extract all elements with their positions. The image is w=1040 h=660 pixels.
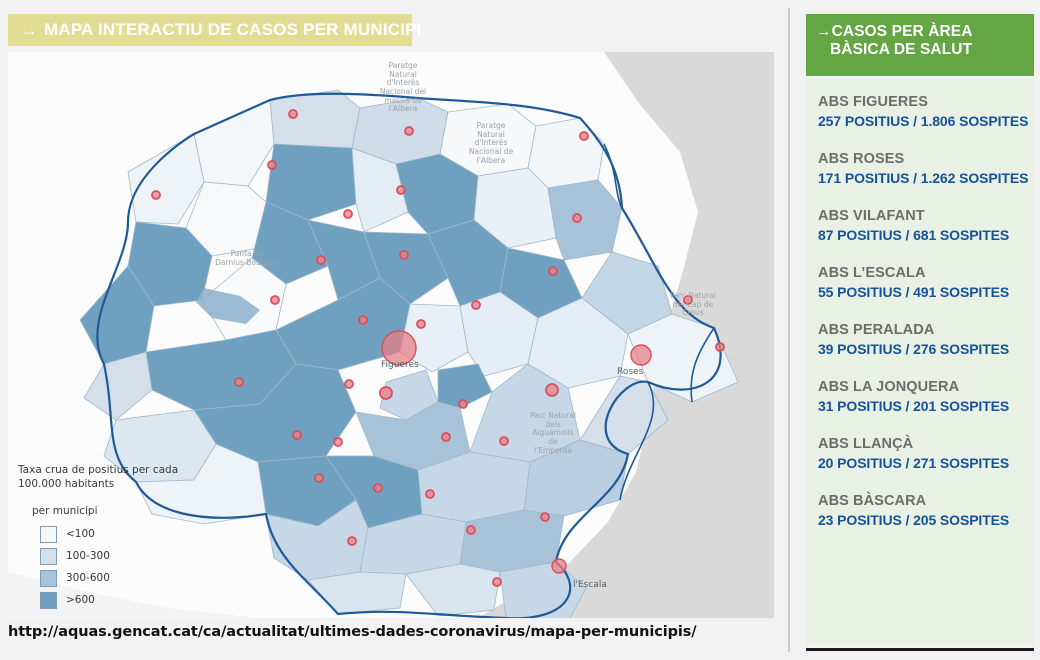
abs-stats: 87 POSITIUS / 681 SOSPITES xyxy=(818,227,1034,243)
map-case-marker[interactable] xyxy=(541,513,549,521)
legend-swatch xyxy=(40,548,57,565)
map-case-marker[interactable] xyxy=(552,559,566,573)
map-case-marker[interactable] xyxy=(397,186,405,194)
legend-label: >600 xyxy=(66,594,95,606)
map-case-marker[interactable] xyxy=(716,343,724,351)
map-case-marker[interactable] xyxy=(442,433,450,441)
map-case-marker[interactable] xyxy=(152,191,160,199)
map-case-marker[interactable] xyxy=(235,378,243,386)
page-root: → MAPA INTERACTIU DE CASOS PER MUNICIPI xyxy=(0,0,1040,660)
map-case-marker[interactable] xyxy=(549,267,557,275)
sidebar-header: →CASOS PER ÀREA BÀSICA DE SALUT xyxy=(806,14,1034,76)
abs-name: ABS ROSES xyxy=(818,151,1034,167)
abs-list-item[interactable]: ABS L’ESCALA55 POSITIUS / 491 SOSPITES xyxy=(818,265,1034,300)
map-case-marker[interactable] xyxy=(631,345,651,365)
map-legend: Taxa crua de positius per cada 100.000 h… xyxy=(18,464,248,611)
map-case-marker[interactable] xyxy=(459,400,467,408)
abs-stats: 39 POSITIUS / 276 SOSPITES xyxy=(818,341,1034,357)
map-title-bar: → MAPA INTERACTIU DE CASOS PER MUNICIPI xyxy=(8,14,412,46)
map-case-marker[interactable] xyxy=(317,256,325,264)
map-column: → MAPA INTERACTIU DE CASOS PER MUNICIPI xyxy=(0,0,782,660)
abs-name: ABS L’ESCALA xyxy=(818,265,1034,281)
map-case-marker[interactable] xyxy=(472,301,480,309)
map-case-marker[interactable] xyxy=(684,296,692,304)
abs-stats: 31 POSITIUS / 201 SOSPITES xyxy=(818,398,1034,414)
map-case-marker[interactable] xyxy=(400,251,408,259)
map-case-marker[interactable] xyxy=(334,438,342,446)
legend-row[interactable]: 100-300 xyxy=(40,545,248,567)
column-divider xyxy=(788,8,790,652)
map-case-marker[interactable] xyxy=(374,484,382,492)
arrow-right-icon-sidebar: → xyxy=(816,23,832,40)
abs-list: ABS FIGUERES257 POSITIUS / 1.806 SOSPITE… xyxy=(806,78,1034,644)
sidebar-title-line2: BÀSICA DE SALUT xyxy=(816,41,972,59)
map-case-marker[interactable] xyxy=(467,526,475,534)
abs-list-item[interactable]: ABS ROSES171 POSITIUS / 1.262 SOSPITES xyxy=(818,151,1034,186)
abs-stats: 20 POSITIUS / 271 SOSPITES xyxy=(818,455,1034,471)
map-case-marker[interactable] xyxy=(500,437,508,445)
legend-row[interactable]: >600 xyxy=(40,589,248,611)
abs-stats: 23 POSITIUS / 205 SOSPITES xyxy=(818,512,1034,528)
sidebar-bottom-rule xyxy=(806,648,1034,651)
map-case-marker[interactable] xyxy=(417,320,425,328)
abs-name: ABS BÀSCARA xyxy=(818,493,1034,509)
arrow-right-icon: → xyxy=(20,21,38,39)
legend-row[interactable]: <100 xyxy=(40,523,248,545)
legend-label: 300-600 xyxy=(66,572,110,584)
abs-list-item[interactable]: ABS BÀSCARA23 POSITIUS / 205 SOSPITES xyxy=(818,493,1034,528)
map-case-marker[interactable] xyxy=(580,132,588,140)
map-case-marker[interactable] xyxy=(348,537,356,545)
abs-stats: 171 POSITIUS / 1.262 SOSPITES xyxy=(818,170,1034,186)
abs-list-item[interactable]: ABS FIGUERES257 POSITIUS / 1.806 SOSPITE… xyxy=(818,94,1034,129)
legend-label: 100-300 xyxy=(66,550,110,562)
map-case-marker[interactable] xyxy=(315,474,323,482)
map-case-marker[interactable] xyxy=(359,316,367,324)
map-case-marker[interactable] xyxy=(382,331,416,365)
map-case-marker[interactable] xyxy=(289,110,297,118)
map-case-marker[interactable] xyxy=(271,296,279,304)
map-case-marker[interactable] xyxy=(546,384,558,396)
map-case-marker[interactable] xyxy=(573,214,581,222)
abs-list-item[interactable]: ABS PERALADA39 POSITIUS / 276 SOSPITES xyxy=(818,322,1034,357)
abs-name: ABS LA JONQUERA xyxy=(818,379,1034,395)
map-case-marker[interactable] xyxy=(380,387,392,399)
interactive-map[interactable]: Paratge Natural d'Interès Nacional del m… xyxy=(8,52,774,618)
map-case-marker[interactable] xyxy=(426,490,434,498)
map-case-marker[interactable] xyxy=(293,431,301,439)
legend-swatch xyxy=(40,526,57,543)
legend-class-list: <100100-300300-600>600 xyxy=(40,523,248,611)
abs-name: ABS PERALADA xyxy=(818,322,1034,338)
abs-name: ABS FIGUERES xyxy=(818,94,1034,110)
legend-title: Taxa crua de positius per cada 100.000 h… xyxy=(18,464,218,491)
sidebar-title-line1: CASOS PER ÀREA xyxy=(832,23,973,40)
abs-stats: 55 POSITIUS / 491 SOSPITES xyxy=(818,284,1034,300)
map-case-marker[interactable] xyxy=(344,210,352,218)
map-case-marker[interactable] xyxy=(493,578,501,586)
abs-name: ABS LLANÇÀ xyxy=(818,436,1034,452)
map-case-marker[interactable] xyxy=(345,380,353,388)
abs-name: ABS VILAFANT xyxy=(818,208,1034,224)
abs-list-item[interactable]: ABS LLANÇÀ20 POSITIUS / 271 SOSPITES xyxy=(818,436,1034,471)
map-case-marker[interactable] xyxy=(405,127,413,135)
map-case-marker[interactable] xyxy=(268,161,276,169)
page-title: MAPA INTERACTIU DE CASOS PER MUNICIPI xyxy=(44,20,422,40)
legend-label: <100 xyxy=(66,528,95,540)
abs-stats: 257 POSITIUS / 1.806 SOSPITES xyxy=(818,113,1034,129)
legend-swatch xyxy=(40,592,57,609)
abs-list-item[interactable]: ABS LA JONQUERA31 POSITIUS / 201 SOSPITE… xyxy=(818,379,1034,414)
legend-row[interactable]: 300-600 xyxy=(40,567,248,589)
source-url[interactable]: http://aquas.gencat.cat/ca/actualitat/ul… xyxy=(8,624,696,640)
abs-list-item[interactable]: ABS VILAFANT87 POSITIUS / 681 SOSPITES xyxy=(818,208,1034,243)
legend-subtitle: per municipi xyxy=(32,505,248,517)
legend-swatch xyxy=(40,570,57,587)
